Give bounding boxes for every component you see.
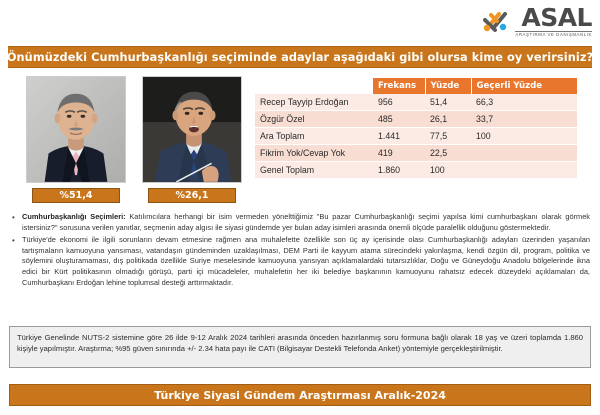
bullet-lead-1: Cumhurbaşkanlığı Seçimleri: <box>22 212 126 221</box>
row-gecerli: 33,7 <box>471 111 577 128</box>
row-yuzde: 77,5 <box>425 128 471 145</box>
methodology-text: Türkiye Genelinde NUTS-2 sistemine göre … <box>17 332 583 355</box>
row-frekans: 956 <box>373 94 425 111</box>
table-row: Recep Tayyip Erdoğan 956 51,4 66,3 <box>255 94 577 111</box>
candidate-block-1: %51,4 <box>26 76 126 203</box>
candidate-percent-label-1: %51,4 <box>60 190 93 201</box>
row-frekans: 419 <box>373 145 425 162</box>
row-label: Özgür Özel <box>255 111 373 128</box>
row-label: Fikrim Yok/Cevap Yok <box>255 145 373 162</box>
poll-results-table: Frekans Yüzde Geçerli Yüzde Recep Tayyip… <box>255 78 577 179</box>
row-frekans: 485 <box>373 111 425 128</box>
analysis-bullets: • Cumhurbaşkanlığı Seçimleri: Katılımcıl… <box>12 212 590 290</box>
row-gecerli: 100 <box>471 128 577 145</box>
list-item: • Cumhurbaşkanlığı Seçimleri: Katılımcıl… <box>12 212 590 233</box>
footer-bar: Türkiye Siyasi Gündem Araştırması Aralık… <box>9 384 591 406</box>
question-text: Önümüzdeki Cumhurbaşkanlığı seçiminde ad… <box>7 51 593 64</box>
candidate-percent-label-2: %26,1 <box>176 190 209 201</box>
row-yuzde: 22,5 <box>425 145 471 162</box>
row-gecerli: 66,3 <box>471 94 577 111</box>
table-header-row: Frekans Yüzde Geçerli Yüzde <box>255 78 577 94</box>
table-row: Fikrim Yok/Cevap Yok 419 22,5 <box>255 145 577 162</box>
bullet-text-1: Cumhurbaşkanlığı Seçimleri: Katılımcılar… <box>22 212 590 233</box>
candidate-photo-erdogan <box>26 76 126 183</box>
candidate-photo-ozel <box>142 76 242 183</box>
column-header-gecerli-yuzde: Geçerli Yüzde <box>471 78 577 94</box>
row-gecerli <box>471 162 577 179</box>
brand-name: ASAL <box>521 6 592 30</box>
row-frekans: 1.860 <box>373 162 425 179</box>
row-label: Ara Toplam <box>255 128 373 145</box>
row-label: Genel Toplam <box>255 162 373 179</box>
column-header-yuzde: Yüzde <box>425 78 471 94</box>
table-row: Ara Toplam 1.441 77,5 100 <box>255 128 577 145</box>
candidate-block-2: %26,1 <box>142 76 242 203</box>
asal-slashes-icon <box>482 9 512 35</box>
question-banner: Önümüzdeki Cumhurbaşkanlığı seçiminde ad… <box>8 46 592 68</box>
results-section: %51,4 <box>0 76 600 208</box>
bullet-text-2: Türkiye'de ekonomi ile ilgili sorunların… <box>22 235 590 288</box>
column-header-frekans: Frekans <box>373 78 425 94</box>
brand-logo: ASAL ARAŞTIRMA VE DANIŞMANLIK <box>482 4 592 40</box>
table-row: Özgür Özel 485 26,1 33,7 <box>255 111 577 128</box>
list-item: • Türkiye'de ekonomi ile ilgili sorunlar… <box>12 235 590 288</box>
footer-title: Türkiye Siyasi Gündem Araştırması Aralık… <box>154 389 446 402</box>
row-yuzde: 51,4 <box>425 94 471 111</box>
candidate-percent-chip-1: %51,4 <box>32 188 120 203</box>
row-label: Recep Tayyip Erdoğan <box>255 94 373 111</box>
row-gecerli <box>471 145 577 162</box>
row-yuzde: 26,1 <box>425 111 471 128</box>
bullet-marker-icon: • <box>12 212 22 233</box>
bullet-marker-icon: • <box>12 235 22 288</box>
row-yuzde: 100 <box>425 162 471 179</box>
methodology-box: Türkiye Genelinde NUTS-2 sistemine göre … <box>9 326 591 368</box>
row-frekans: 1.441 <box>373 128 425 145</box>
column-header-blank <box>255 78 373 94</box>
candidate-percent-chip-2: %26,1 <box>148 188 236 203</box>
brand-tagline: ARAŞTIRMA VE DANIŞMANLIK <box>515 31 592 37</box>
table-row: Genel Toplam 1.860 100 <box>255 162 577 179</box>
